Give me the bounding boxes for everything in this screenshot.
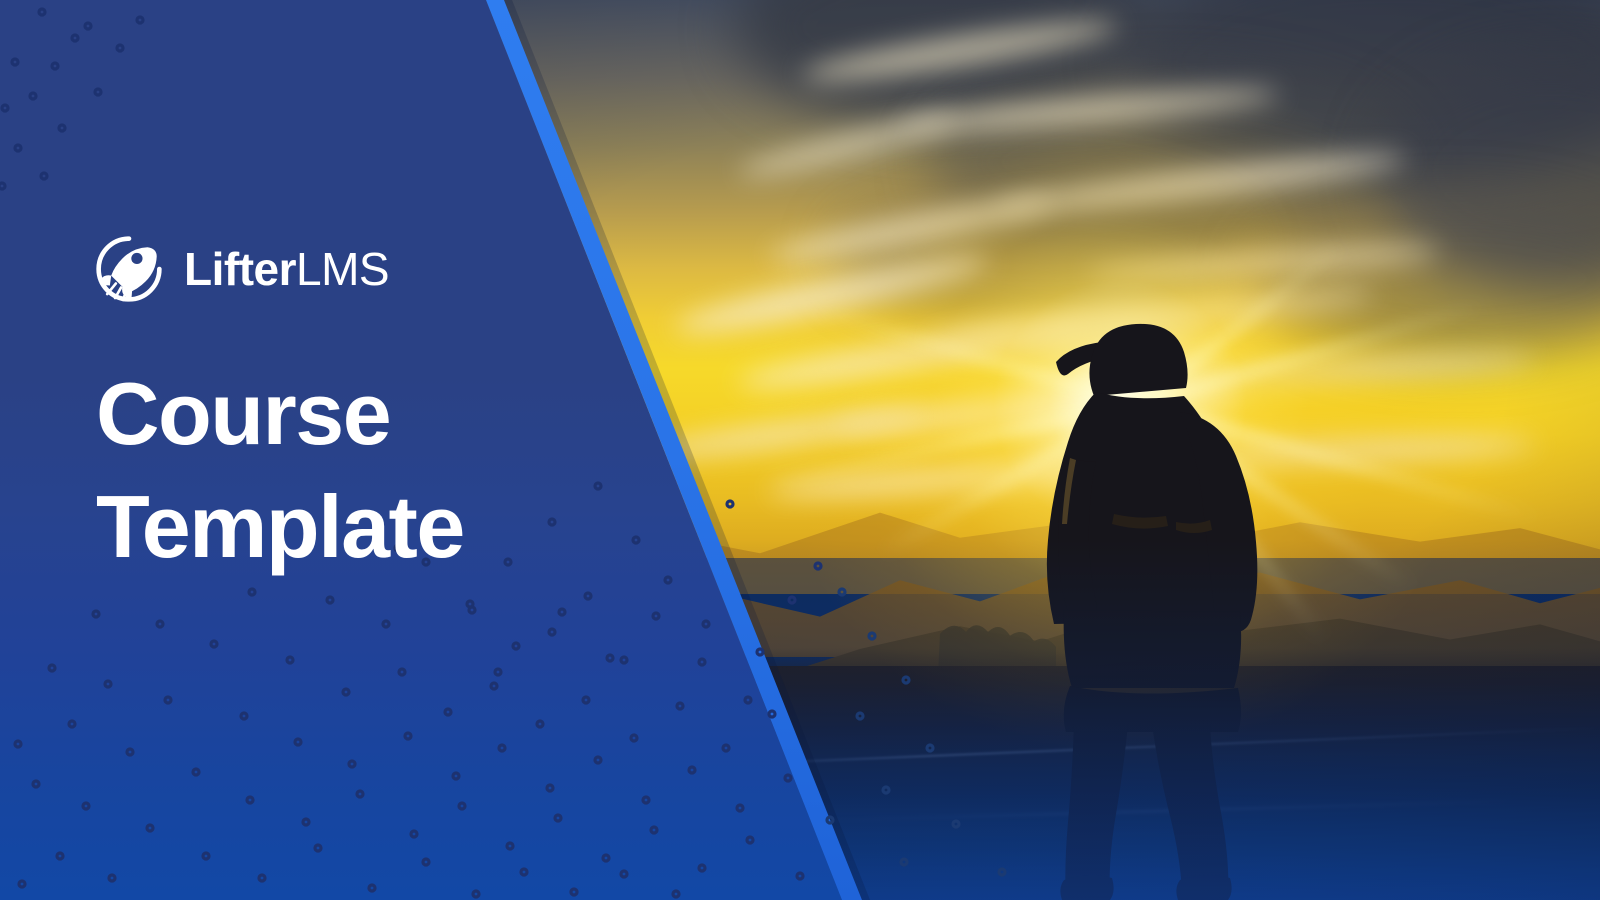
course-template-banner: LifterLMS Course Template [0, 0, 1600, 900]
banner-content: LifterLMS Course Template [96, 236, 566, 583]
lifterlms-logo[interactable]: LifterLMS [96, 236, 566, 302]
rocket-in-circle-icon [96, 236, 162, 302]
headline-line-1: Course [96, 358, 566, 471]
wordmark-light: LMS [296, 243, 389, 295]
page-title: Course Template [96, 358, 566, 583]
lifterlms-wordmark: LifterLMS [184, 246, 389, 292]
headline-line-2: Template [96, 471, 566, 584]
wordmark-bold: Lifter [184, 243, 296, 295]
